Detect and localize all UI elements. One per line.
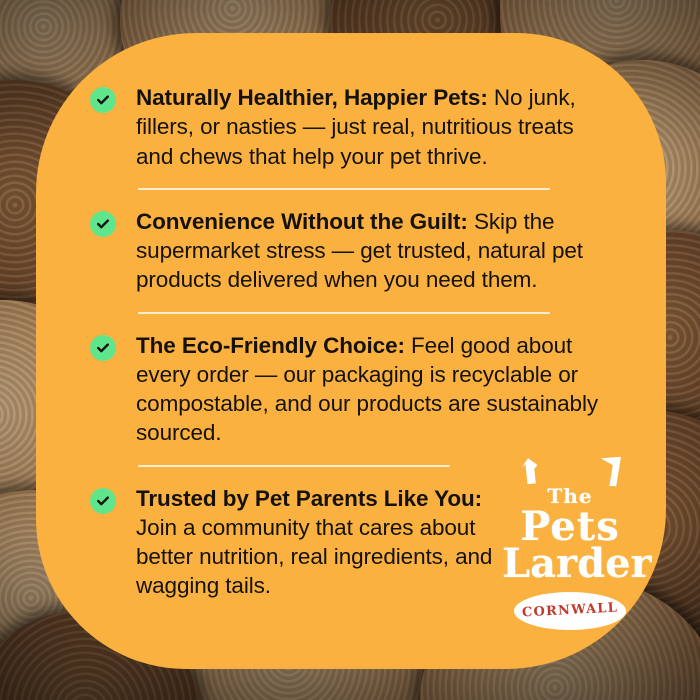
benefit-item-3: The Eco-Friendly Choice: Feel good about… bbox=[90, 331, 610, 448]
benefit-text-4: Trusted by Pet Parents Like You: Join a … bbox=[136, 484, 504, 601]
benefits-card: Naturally Healthier, Happier Pets: No ju… bbox=[36, 33, 666, 669]
benefit-text-2: Convenience Without the Guilt: Skip the … bbox=[136, 207, 610, 295]
check-circle-icon bbox=[90, 335, 116, 361]
dog-ear-right-icon bbox=[599, 455, 621, 486]
logo-location-text: CORNWALL bbox=[522, 601, 619, 621]
benefit-item-2: Convenience Without the Guilt: Skip the … bbox=[90, 207, 610, 295]
benefit-lead-3: The Eco-Friendly Choice: bbox=[136, 333, 405, 358]
check-circle-icon bbox=[90, 488, 116, 514]
dog-ears-icon-group bbox=[502, 456, 638, 486]
benefit-lead-1: Naturally Healthier, Happier Pets: bbox=[136, 85, 488, 110]
benefit-lead-4: Trusted by Pet Parents Like You: bbox=[136, 486, 482, 511]
brand-logo: The Pets Larder CORNWALL bbox=[502, 456, 638, 636]
logo-larder-text: Larder bbox=[502, 545, 638, 583]
check-circle-icon-wrapper bbox=[90, 211, 116, 237]
check-circle-icon-wrapper bbox=[90, 87, 116, 113]
benefit-item-1: Naturally Healthier, Happier Pets: No ju… bbox=[90, 83, 610, 171]
check-circle-icon bbox=[90, 87, 116, 113]
benefit-divider-1 bbox=[138, 188, 550, 190]
benefit-text-3: The Eco-Friendly Choice: Feel good about… bbox=[136, 331, 610, 448]
dog-ear-left-icon bbox=[521, 457, 540, 485]
benefit-body-4: Join a community that cares about better… bbox=[136, 515, 492, 599]
logo-location-badge: CORNWALL bbox=[514, 592, 626, 630]
benefit-text-1: Naturally Healthier, Happier Pets: No ju… bbox=[136, 83, 610, 171]
check-circle-icon bbox=[90, 211, 116, 237]
check-circle-icon-wrapper bbox=[90, 488, 116, 514]
check-circle-icon-wrapper bbox=[90, 335, 116, 361]
benefit-lead-2: Convenience Without the Guilt: bbox=[136, 209, 468, 234]
benefit-divider-2 bbox=[138, 312, 550, 314]
benefit-divider-3 bbox=[138, 465, 450, 467]
